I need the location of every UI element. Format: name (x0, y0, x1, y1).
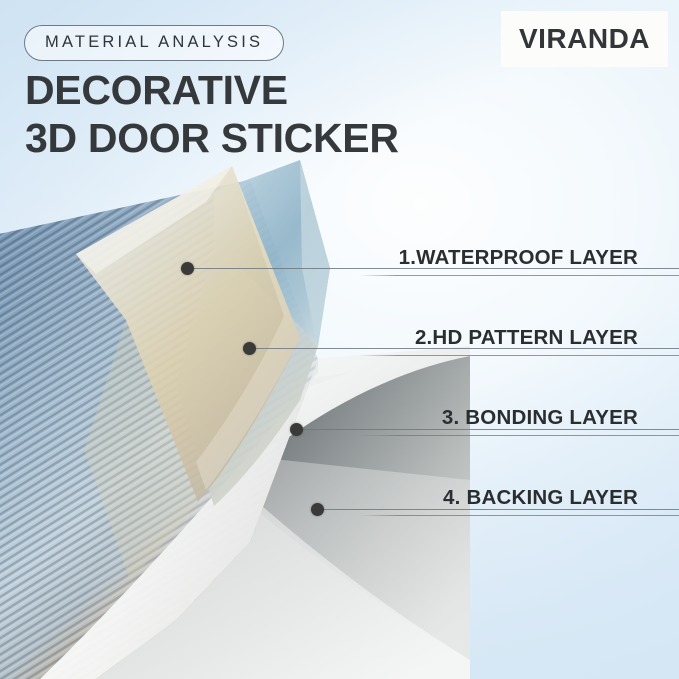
callout-bonding-layer: 3. BONDING LAYER (359, 408, 679, 436)
poster-canvas: MATERIAL ANALYSIS DECORATIVE 3D DOOR STI… (0, 0, 679, 679)
leader-line (323, 509, 679, 510)
eyebrow-badge: MATERIAL ANALYSIS (24, 25, 284, 61)
callout-underline (359, 435, 679, 436)
callout-waterproof-layer: 1.WATERPROOF LAYER (359, 248, 679, 276)
leader-line (302, 429, 679, 430)
page-title-line1: DECORATIVE (25, 67, 288, 113)
leader-dot (290, 423, 303, 436)
callout-underline (359, 275, 679, 276)
page-title: DECORATIVE 3D DOOR STICKER (25, 66, 399, 163)
leader-dot (311, 503, 324, 516)
callout-underline (359, 515, 679, 516)
leader-line (193, 268, 679, 269)
callout-underline (359, 355, 679, 356)
leader-dot (243, 342, 256, 355)
callout-label: 3. BONDING LAYER (359, 408, 679, 429)
callout-label: 1.WATERPROOF LAYER (359, 248, 679, 269)
leader-dot (181, 262, 194, 275)
callout-label: 2.HD PATTERN LAYER (359, 328, 679, 349)
page-title-line2: 3D DOOR STICKER (25, 114, 399, 162)
callout-backing-layer: 4. BACKING LAYER (359, 488, 679, 516)
brand-logo-text: VIRANDA (519, 23, 650, 55)
callout-hd-pattern-layer: 2.HD PATTERN LAYER (359, 328, 679, 356)
leader-line (255, 348, 679, 349)
brand-logo: VIRANDA (501, 11, 668, 67)
callout-label: 4. BACKING LAYER (359, 488, 679, 509)
